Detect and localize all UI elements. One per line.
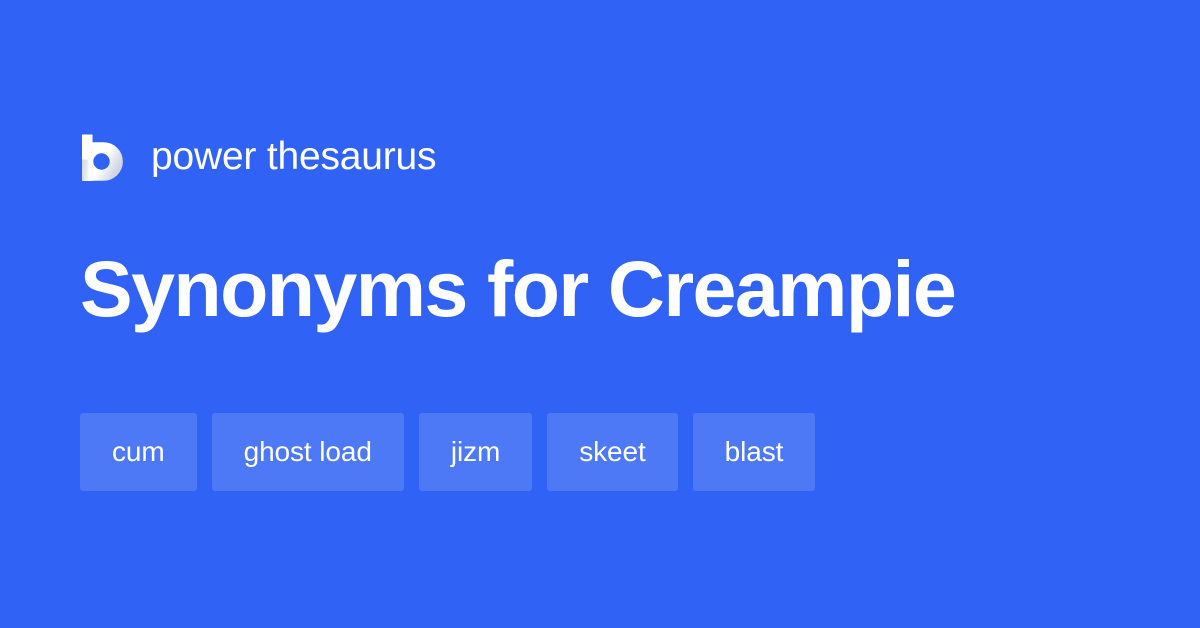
synonym-chip[interactable]: cum [80,413,197,491]
open-graph-card: power thesaurus Synonyms for Creampie cu… [0,0,1200,628]
synonym-chip-label: ghost load [244,438,372,466]
synonym-chip-label: cum [112,438,165,466]
synonym-chip-label: blast [725,438,784,466]
synonym-chip-label: jizm [451,438,500,466]
synonym-chip[interactable]: blast [693,413,816,491]
synonym-chip[interactable]: ghost load [212,413,404,491]
power-thesaurus-b-logo-icon [80,131,126,181]
synonym-chip-list: cum ghost load jizm skeet blast [80,413,815,491]
page-title: Synonyms for Creampie [80,247,1140,331]
synonym-chip-label: skeet [579,438,645,466]
brand-wordmark: power thesaurus [151,137,436,176]
synonym-chip[interactable]: skeet [547,413,677,491]
brand-header[interactable]: power thesaurus [80,131,436,181]
synonym-chip[interactable]: jizm [419,413,532,491]
